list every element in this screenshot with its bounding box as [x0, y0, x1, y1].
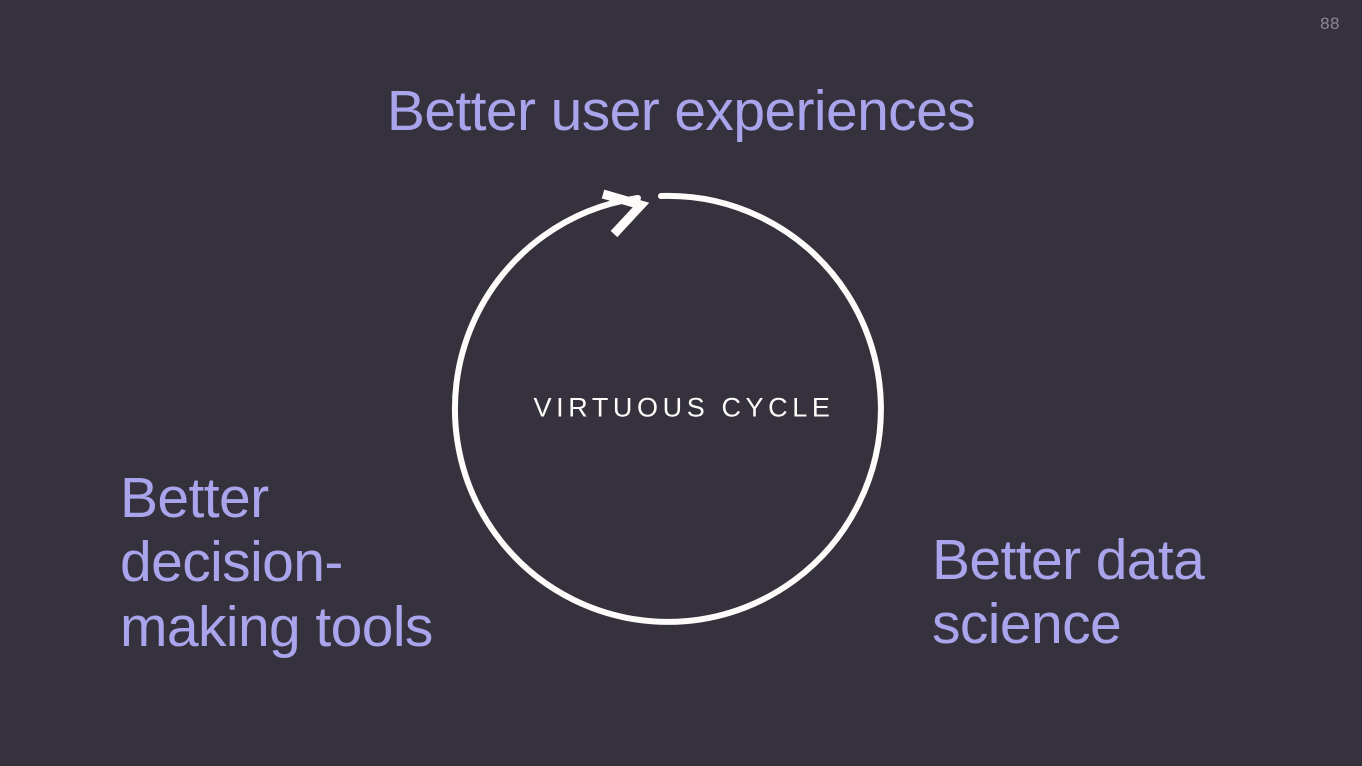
clockwise-arrowhead-icon: [603, 194, 641, 234]
cycle-node-better-decision-making-tools: Better decision- making tools: [120, 466, 433, 659]
slide-canvas: 88 VIRTUOUS CYCLE Better user experience…: [0, 0, 1362, 766]
cycle-node-better-user-experiences: Better user experiences: [387, 82, 975, 141]
virtuous-cycle-diagram: VIRTUOUS CYCLE Better user experiences B…: [0, 0, 1362, 766]
cycle-node-better-data-science: Better data science: [932, 528, 1204, 657]
cycle-center-label: VIRTUOUS CYCLE: [534, 393, 835, 424]
